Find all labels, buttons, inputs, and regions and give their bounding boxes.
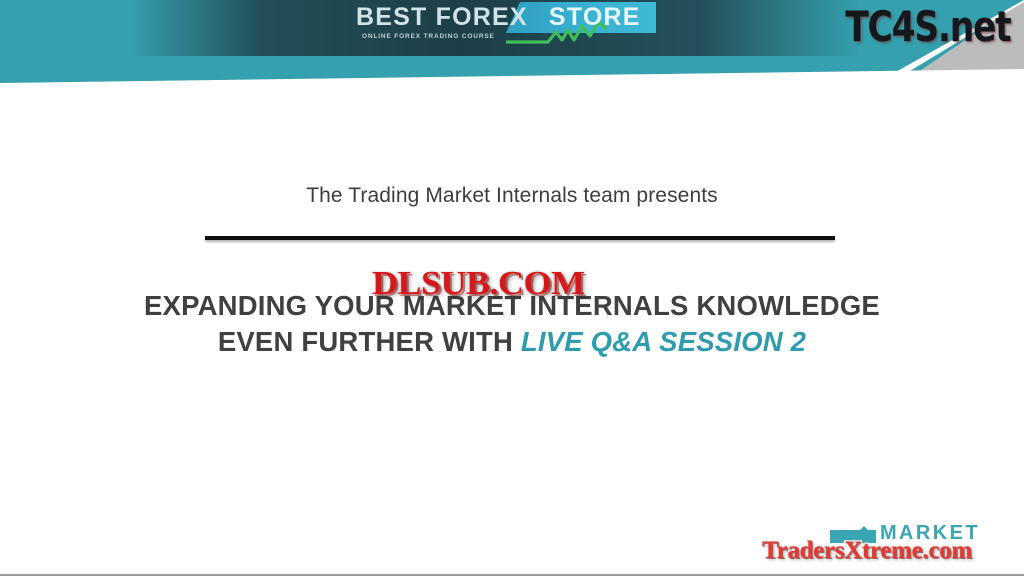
logo-word-store: STORE (549, 3, 641, 31)
logo-word-best: BEST (356, 3, 427, 31)
best-forex-store-logo[interactable]: BEST FOREX STORE ONLINE FOREX TRADING CO… (356, 2, 656, 48)
logo-word-forex: FOREX (436, 3, 528, 31)
logo-tagline: ONLINE FOREX TRADING COURSE (362, 33, 495, 40)
watermark-dlsub: DLSUB.COM (372, 265, 584, 303)
header-band: BEST FOREX STORE ONLINE FOREX TRADING CO… (0, 0, 1024, 83)
headline-line-2-plain: EVEN FURTHER WITH (218, 326, 521, 357)
watermark-tc4s: TC4S.net (845, 2, 1010, 51)
subtitle-presents: The Trading Market Internals team presen… (0, 184, 1024, 208)
presentation-slide: BEST FOREX STORE ONLINE FOREX TRADING CO… (0, 0, 1024, 576)
headline-line-2-accent: LIVE Q&A SESSION 2 (521, 326, 806, 357)
divider-rule (205, 236, 835, 240)
watermark-tradersxtreme: TradersXtreme.com (762, 537, 972, 565)
logo-wordmark: BEST FOREX STORE (356, 2, 656, 33)
headline-line-2: EVEN FURTHER WITH LIVE Q&A SESSION 2 (0, 324, 1024, 360)
